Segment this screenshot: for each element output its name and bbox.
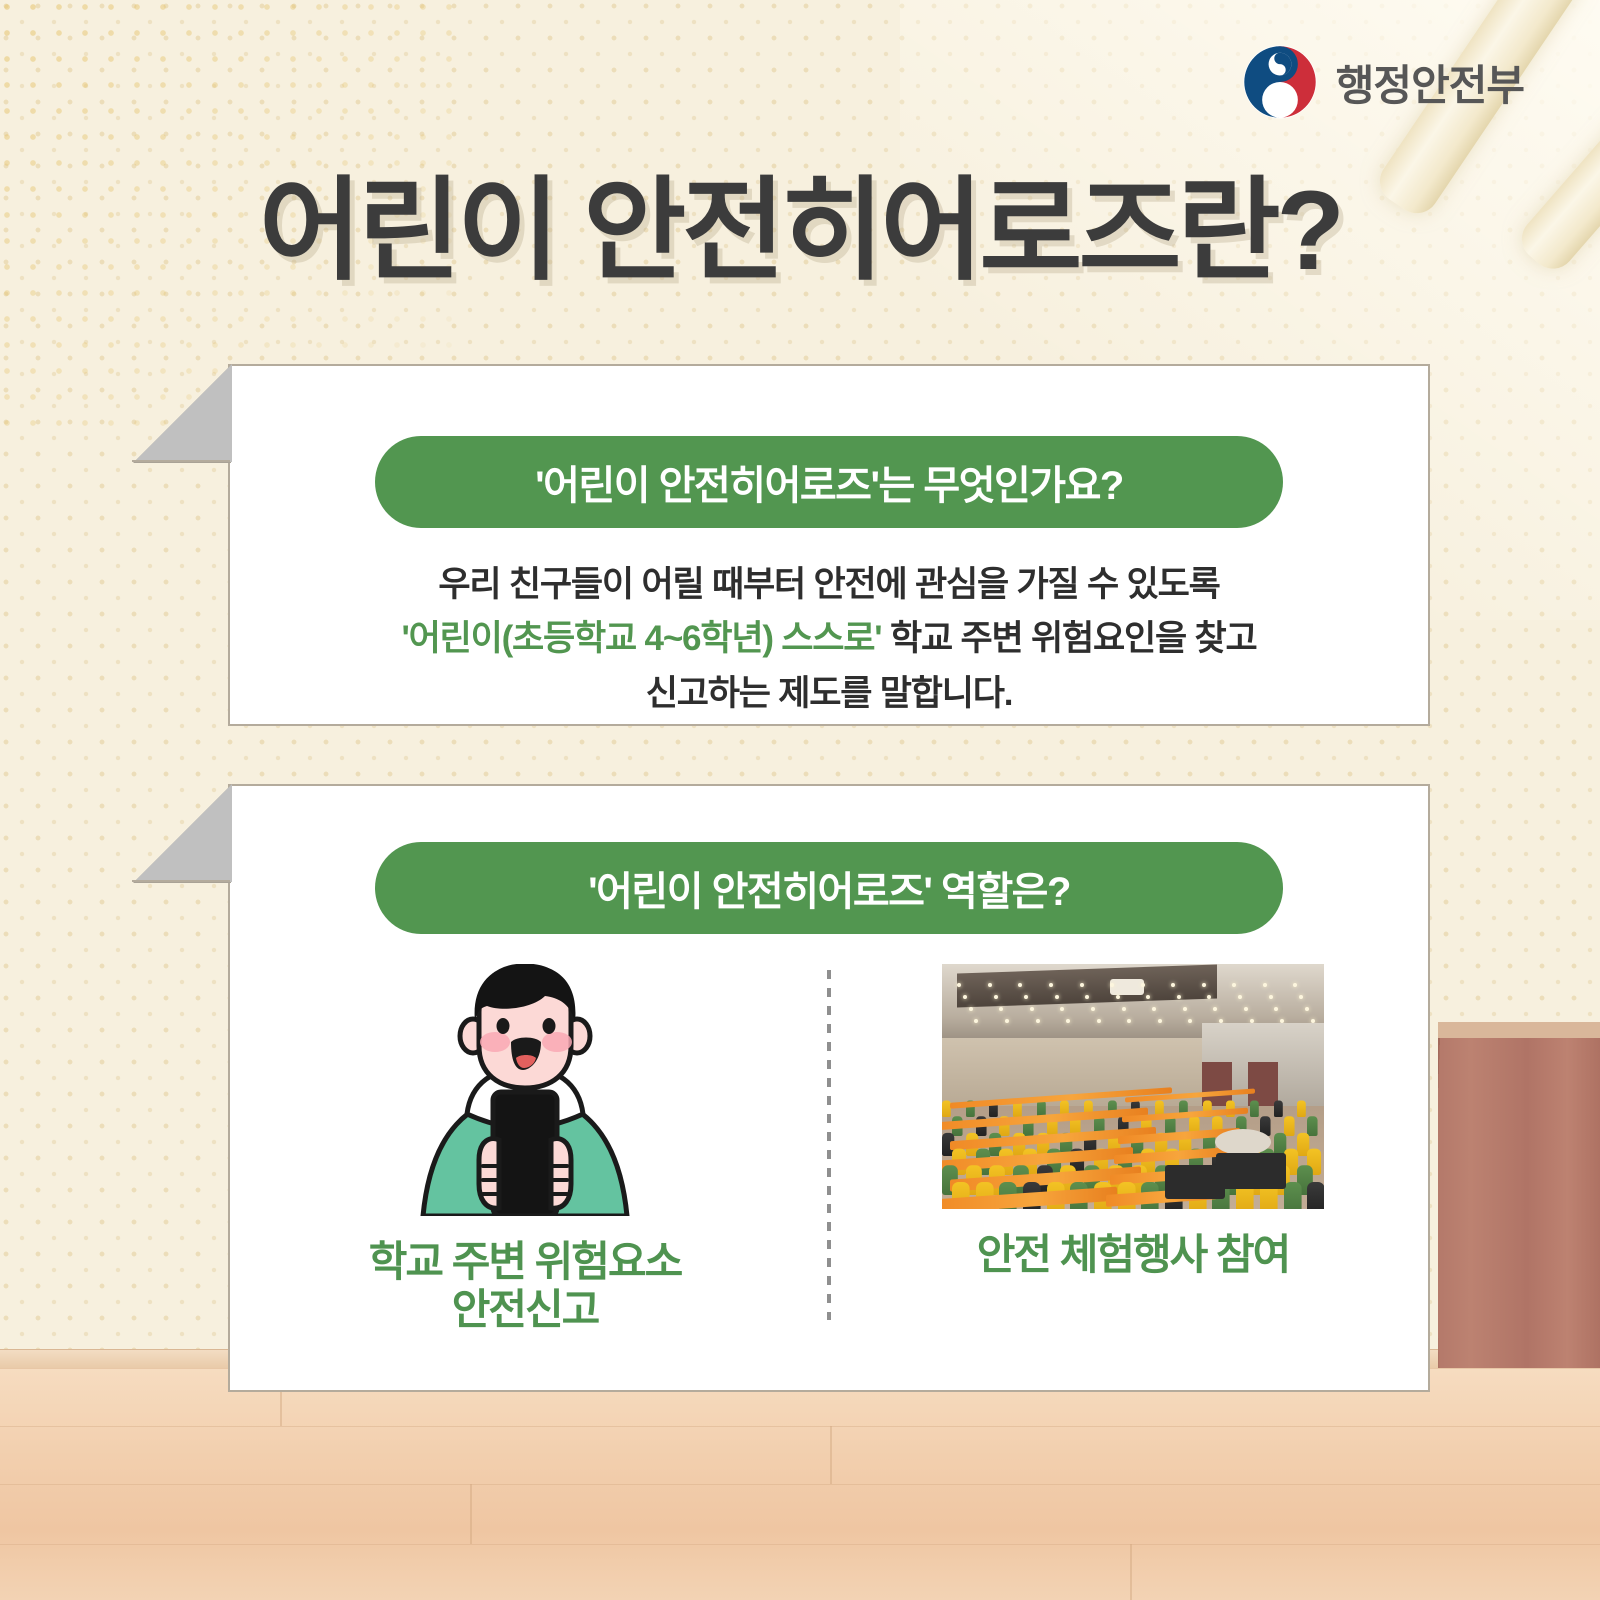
taegeuk-icon bbox=[1242, 44, 1318, 120]
role-caption-line: 학교 주변 위험요소 bbox=[369, 1238, 681, 1286]
folded-corner-icon bbox=[134, 364, 232, 462]
boy-with-smartphone-illustration bbox=[375, 964, 675, 1216]
role-item-safety-event: 안전 체험행사 참여 bbox=[873, 964, 1393, 1279]
folded-corner-edge bbox=[132, 460, 230, 462]
folded-corner-edge bbox=[132, 880, 230, 882]
folded-corner-icon bbox=[134, 784, 232, 882]
role-caption: 안전 체험행사 참여 bbox=[977, 1231, 1289, 1279]
role-item-safety-report: 학교 주변 위험요소 안전신고 bbox=[265, 964, 785, 1334]
wooden-floor bbox=[0, 1368, 1600, 1600]
about-body-line-suffix: 학교 주변 위험요인을 찾고 bbox=[881, 619, 1256, 658]
about-body-highlight: '어린이(초등학교 4~6학년) 스스로' bbox=[401, 619, 881, 658]
government-logo: 행정안전부 bbox=[1242, 44, 1524, 120]
about-body-line: 신고하는 제도를 말합니다. bbox=[230, 667, 1428, 721]
roles-card: '어린이 안전히어로즈' 역할은? bbox=[228, 784, 1430, 1392]
about-body-text: 우리 친구들이 어릴 때부터 안전에 관심을 가질 수 있도록 '어린이(초등학… bbox=[230, 558, 1428, 721]
wood-panel bbox=[1438, 1038, 1600, 1388]
page-title: 어린이 안전히어로즈란? bbox=[0, 140, 1600, 302]
about-card: '어린이 안전히어로즈'는 무엇인가요? 우리 친구들이 어릴 때부터 안전에 … bbox=[228, 364, 1430, 726]
roles-divider bbox=[827, 970, 831, 1320]
about-body-line: 우리 친구들이 어릴 때부터 안전에 관심을 가질 수 있도록 bbox=[230, 558, 1428, 612]
safety-experience-event-photo bbox=[942, 964, 1324, 1209]
role-caption: 학교 주변 위험요소 안전신고 bbox=[369, 1238, 681, 1334]
roles-list: 학교 주변 위험요소 안전신고 bbox=[230, 964, 1428, 1390]
role-caption-line: 안전신고 bbox=[369, 1286, 681, 1334]
ministry-name: 행정안전부 bbox=[1336, 52, 1524, 113]
role-caption-line: 안전 체험행사 참여 bbox=[977, 1231, 1289, 1279]
about-section-heading: '어린이 안전히어로즈'는 무엇인가요? bbox=[375, 436, 1283, 528]
about-body-line: '어린이(초등학교 4~6학년) 스스로' 학교 주변 위험요인을 찾고 bbox=[230, 612, 1428, 666]
roles-section-heading: '어린이 안전히어로즈' 역할은? bbox=[375, 842, 1283, 934]
poster-canvas: 행정안전부 어린이 안전히어로즈란? '어린이 안전히어로즈'는 무엇인가요? … bbox=[0, 0, 1600, 1600]
